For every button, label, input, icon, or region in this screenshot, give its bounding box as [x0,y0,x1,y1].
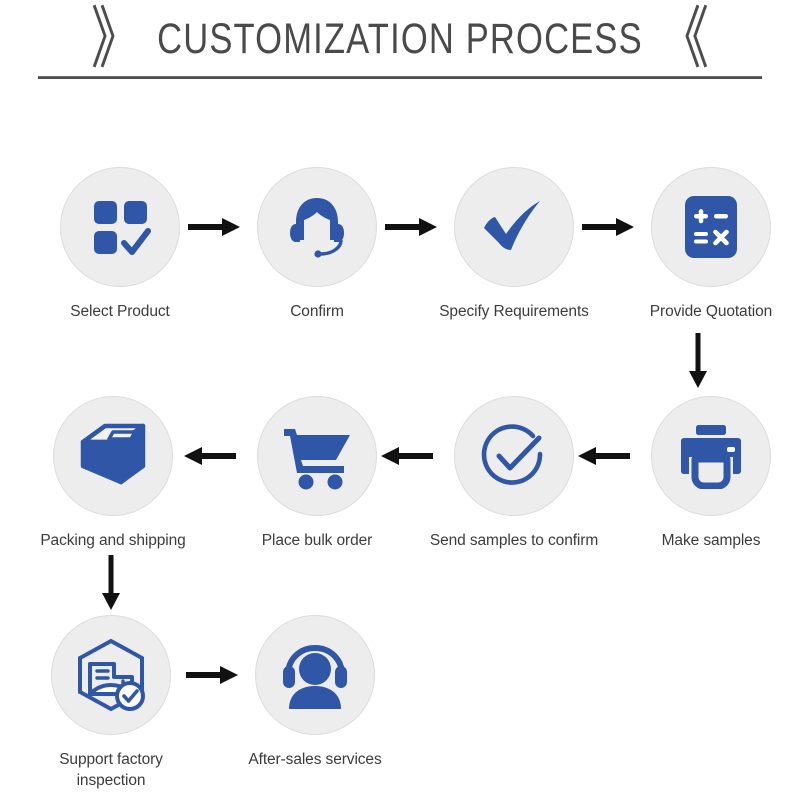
step-node-packing-and-shipping[interactable]: Packing and shipping [28,396,198,551]
checkmark-icon [477,190,551,264]
step-node-provide-quotation[interactable]: Provide Quotation [626,167,796,322]
circle-check-icon [476,418,552,494]
step-node-specify-requirements[interactable]: Specify Requirements [429,167,599,322]
printer-icon [675,423,747,489]
page-title: CUSTOMIZATION PROCESS [157,13,643,65]
step-label: Provide Quotation [626,301,796,322]
step-icon-circle [257,167,377,287]
factory-inspection-icon [72,636,150,714]
step-node-send-samples-to-confirm[interactable]: Send samples to confirm [429,396,599,551]
chevron-left-decor-icon: 《 [659,5,709,73]
headset-person-icon [277,639,353,711]
arrow-left-1 [182,444,236,468]
step-label: After-sales services [230,749,400,770]
box-icon [75,420,151,492]
arrow-down-right [686,333,710,389]
step-node-after-sales-services[interactable]: After-sales services [230,615,400,770]
title-divider [38,76,762,79]
step-label: Select Product [35,301,205,322]
step-icon-circle [60,167,180,287]
step-icon-circle [255,615,375,735]
step-icon-circle [454,396,574,516]
step-label: Send samples to confirm [429,530,599,551]
step-icon-circle [454,167,574,287]
step-node-make-samples[interactable]: Make samples [626,396,796,551]
step-node-support-factory-inspection[interactable]: Support factory inspection [26,615,196,791]
arrow-left-3 [576,444,630,468]
arrow-left-2 [379,444,433,468]
step-icon-circle [651,167,771,287]
title-row: 》 CUSTOMIZATION PROCESS 《 [0,14,800,64]
step-label: Packing and shipping [28,530,198,551]
step-label: Make samples [626,530,796,551]
shopping-cart-icon [280,422,354,490]
step-icon-circle [651,396,771,516]
calculator-icon [679,192,743,262]
step-node-select-product[interactable]: Select Product [35,167,205,322]
step-label: Specify Requirements [429,301,599,322]
support-agent-icon [280,190,354,264]
step-icon-circle [51,615,171,735]
step-icon-circle [257,396,377,516]
chevron-right-decor-icon: 》 [91,5,141,73]
grid-check-icon [86,193,154,261]
step-node-place-bulk-order[interactable]: Place bulk order [232,396,402,551]
step-node-confirm[interactable]: Confirm [232,167,402,322]
step-label: Confirm [232,301,402,322]
arrow-down-left [99,555,123,611]
step-label: Support factory inspection [26,749,196,791]
step-label: Place bulk order [232,530,402,551]
step-icon-circle [53,396,173,516]
page-header: 》 CUSTOMIZATION PROCESS 《 [0,0,800,90]
